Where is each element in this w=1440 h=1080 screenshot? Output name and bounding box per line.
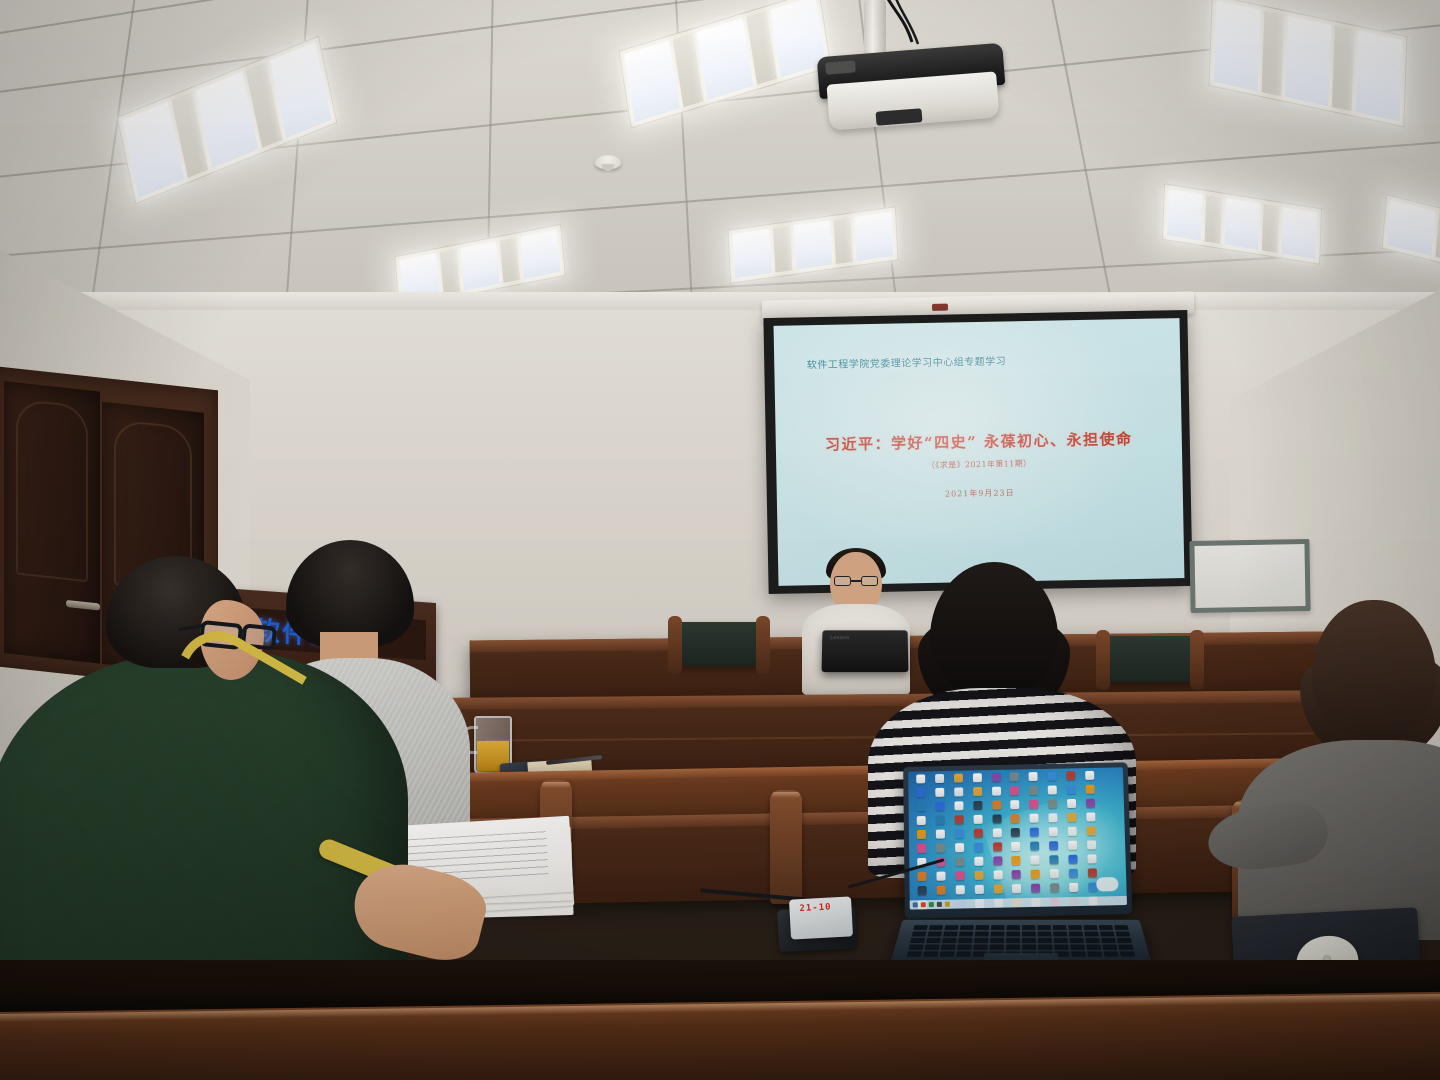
- desktop-icon[interactable]: [974, 843, 983, 852]
- keyboard-key[interactable]: [1054, 944, 1069, 949]
- keyboard-key[interactable]: [1118, 944, 1133, 949]
- desktop-icon[interactable]: [1050, 883, 1059, 892]
- desktop-icon[interactable]: [993, 856, 1002, 865]
- keyboard-key[interactable]: [1071, 951, 1086, 956]
- keyboard-key[interactable]: [956, 951, 971, 956]
- desktop-icon[interactable]: [1030, 800, 1039, 809]
- desktop-icon[interactable]: [992, 814, 1001, 823]
- desktop-icon[interactable]: [1048, 785, 1057, 794]
- keyboard-key[interactable]: [1069, 938, 1084, 943]
- keyboard-key[interactable]: [1053, 925, 1067, 930]
- keyboard-key[interactable]: [1120, 951, 1136, 956]
- desktop-icon[interactable]: [1012, 870, 1021, 879]
- desktop-icon[interactable]: [1068, 813, 1077, 822]
- desktop-icon[interactable]: [1011, 800, 1020, 809]
- glasses-icon: [834, 576, 878, 586]
- desktop-icon[interactable]: [1069, 883, 1078, 892]
- desktop-icon[interactable]: [916, 774, 925, 783]
- keyboard-key[interactable]: [959, 931, 973, 936]
- keyboard-key[interactable]: [957, 944, 972, 949]
- keyboard-key[interactable]: [1086, 944, 1101, 949]
- desktop-icon[interactable]: [973, 787, 982, 796]
- desktop-icon[interactable]: [917, 844, 926, 853]
- desktop-icon[interactable]: [1031, 870, 1040, 879]
- keyboard-key[interactable]: [925, 944, 940, 949]
- desktop-icon[interactable]: [1069, 855, 1078, 864]
- keyboard-key[interactable]: [910, 938, 925, 943]
- keyboard-key[interactable]: [958, 938, 973, 943]
- keyboard-key[interactable]: [990, 931, 1004, 936]
- keyboard-key[interactable]: [1101, 938, 1116, 943]
- desktop-icon[interactable]: [954, 787, 963, 796]
- keyboard-key[interactable]: [1022, 925, 1036, 930]
- desktop-icon[interactable]: [992, 828, 1001, 837]
- desktop-icon[interactable]: [1029, 786, 1038, 795]
- keyboard-key[interactable]: [973, 944, 988, 949]
- desktop-icon[interactable]: [954, 815, 963, 824]
- desktop-icon[interactable]: [1031, 856, 1040, 865]
- keyboard-key[interactable]: [1102, 944, 1117, 949]
- attendee-woman-grey-top: [1292, 600, 1440, 960]
- desktop-icon[interactable]: [973, 829, 982, 838]
- armrest: [770, 790, 802, 904]
- keyboard-key[interactable]: [1104, 951, 1119, 956]
- desktop-icon[interactable]: [1050, 869, 1059, 878]
- slide-surface: 软件工程学院党委理论学习中心组专题学习 习近平：学好“四史” 永葆初心、永担使命…: [774, 318, 1185, 586]
- desktop-icon[interactable]: [1012, 884, 1021, 893]
- desktop-icon[interactable]: [1088, 868, 1097, 877]
- keyboard-key[interactable]: [974, 938, 988, 943]
- desktop-icon[interactable]: [954, 801, 963, 810]
- keyboard-key[interactable]: [1054, 938, 1068, 943]
- portable-device[interactable]: 21-10: [789, 896, 853, 939]
- desktop-icon[interactable]: [973, 801, 982, 810]
- desktop-icon[interactable]: [1012, 856, 1021, 865]
- desktop-icon[interactable]: [1030, 814, 1039, 823]
- keyboard-key[interactable]: [912, 931, 927, 936]
- desktop-icon[interactable]: [1050, 855, 1059, 864]
- laptop-screen[interactable]: [908, 767, 1127, 909]
- desktop-icon[interactable]: [955, 857, 964, 866]
- desktop-icon[interactable]: [1068, 841, 1077, 850]
- slide-header-text: 软件工程学院党委理论学习中心组专题学习: [807, 353, 1007, 372]
- keyboard-key[interactable]: [990, 944, 1004, 949]
- desktop-icon[interactable]: [1087, 826, 1096, 835]
- keyboard-key[interactable]: [913, 925, 928, 930]
- desktop-icon[interactable]: [935, 788, 944, 797]
- hair: [1312, 600, 1436, 742]
- keyboard-key[interactable]: [941, 944, 956, 949]
- keyboard-key[interactable]: [1068, 925, 1082, 930]
- keyboard-key[interactable]: [991, 925, 1005, 930]
- desktop-icon[interactable]: [1048, 799, 1057, 808]
- desktop-icon[interactable]: [1011, 828, 1020, 837]
- keyboard-key[interactable]: [1100, 931, 1115, 936]
- desktop-icon[interactable]: [1049, 827, 1058, 836]
- desktop-icon[interactable]: [1049, 813, 1058, 822]
- keyboard-key[interactable]: [927, 931, 942, 936]
- keyboard-key[interactable]: [975, 925, 989, 930]
- keyboard-key[interactable]: [1006, 931, 1020, 936]
- desktop-icon[interactable]: [993, 884, 1002, 893]
- desktop-icon[interactable]: [935, 774, 944, 783]
- desktop-icon[interactable]: [1067, 785, 1076, 794]
- desktop-icon[interactable]: [1069, 869, 1078, 878]
- keyboard-key[interactable]: [1115, 931, 1130, 936]
- desktop-icon[interactable]: [1048, 772, 1057, 781]
- desktop-icon[interactable]: [974, 871, 983, 880]
- desktop-icon[interactable]: [1010, 772, 1019, 781]
- keyboard-key[interactable]: [943, 931, 958, 936]
- keyboard-key[interactable]: [940, 951, 955, 956]
- search-icon[interactable]: [1096, 877, 1118, 892]
- keyboard-key[interactable]: [942, 938, 957, 943]
- desktop-icon[interactable]: [1010, 786, 1019, 795]
- slide-subtitle-text: （《求是》2021年第11期）: [776, 455, 1182, 474]
- desktop-icon[interactable]: [917, 886, 926, 895]
- desktop-icon[interactable]: [955, 843, 964, 852]
- desktop-icon[interactable]: [1085, 771, 1094, 780]
- keyboard-key[interactable]: [944, 925, 958, 930]
- keyboard-key[interactable]: [990, 938, 1004, 943]
- desktop-icon[interactable]: [1087, 840, 1096, 849]
- slide-title-text: 习近平：学好“四史” 永葆初心、永担使命: [776, 427, 1182, 456]
- keyboard-key[interactable]: [1069, 931, 1083, 936]
- desktop-icon[interactable]: [1066, 771, 1075, 780]
- desktop-icon[interactable]: [1031, 884, 1040, 893]
- slide-date-text: 2021年9月23日: [777, 484, 1183, 503]
- desktop-icon[interactable]: [974, 857, 983, 866]
- keyboard-key[interactable]: [975, 931, 989, 936]
- desktop-icon[interactable]: [1067, 799, 1076, 808]
- desktop-icon-grid[interactable]: [912, 770, 1120, 899]
- desktop-icon[interactable]: [955, 829, 964, 838]
- keyboard-key[interactable]: [1006, 944, 1020, 949]
- desktop-icon[interactable]: [955, 885, 964, 894]
- desktop-icon[interactable]: [992, 787, 1001, 796]
- desktop-icon[interactable]: [917, 816, 926, 825]
- desktop-icon[interactable]: [936, 872, 945, 881]
- desktop-icon[interactable]: [1029, 772, 1038, 781]
- desktop-icon[interactable]: [917, 872, 926, 881]
- desktop-icon[interactable]: [936, 816, 945, 825]
- presenter-laptop[interactable]: [822, 630, 909, 672]
- keyboard-key[interactable]: [1114, 925, 1129, 930]
- keyboard-key[interactable]: [1087, 951, 1102, 956]
- keyboard-key[interactable]: [1038, 931, 1052, 936]
- meeting-room-photo: 软件工程 软件工程学院党委理论学习中心组专题学习 习近平：学好“四史” 永葆初心…: [0, 0, 1440, 1080]
- smoke-detector-icon: [595, 155, 621, 169]
- desktop-icon[interactable]: [916, 788, 925, 797]
- desktop-icon[interactable]: [955, 871, 964, 880]
- keyboard-key[interactable]: [1053, 931, 1067, 936]
- desktop-icon[interactable]: [1011, 814, 1020, 823]
- keyboard-key[interactable]: [1022, 931, 1036, 936]
- keyboard-key[interactable]: [1084, 931, 1099, 936]
- desktop-icon[interactable]: [935, 802, 944, 811]
- desktop-icon[interactable]: [974, 885, 983, 894]
- keyboard-key[interactable]: [1038, 944, 1052, 949]
- keyboard-key[interactable]: [1006, 925, 1020, 930]
- keyboard-key[interactable]: [1099, 925, 1113, 930]
- wall-soffit: [0, 292, 1440, 310]
- desktop-icon[interactable]: [1049, 841, 1058, 850]
- keyboard-key[interactable]: [929, 925, 943, 930]
- desktop-icon[interactable]: [1088, 854, 1097, 863]
- keyboard-key[interactable]: [1022, 944, 1036, 949]
- chair[interactable]: [676, 622, 762, 666]
- keyboard-key[interactable]: [1117, 938, 1132, 943]
- desktop-icon[interactable]: [993, 870, 1002, 879]
- desktop-icon[interactable]: [936, 844, 945, 853]
- desktop-icon[interactable]: [973, 773, 982, 782]
- desktop-icon[interactable]: [1086, 785, 1095, 794]
- desktop-icon[interactable]: [1086, 799, 1095, 808]
- keyboard-key[interactable]: [960, 925, 974, 930]
- keyboard-key[interactable]: [926, 938, 941, 943]
- presenter: [808, 552, 908, 702]
- ceiling: [0, 0, 1440, 330]
- desktop-icon[interactable]: [991, 773, 1000, 782]
- desktop-icon[interactable]: [1012, 842, 1021, 851]
- keyboard-key[interactable]: [907, 951, 923, 956]
- keyboard-key[interactable]: [1037, 925, 1051, 930]
- desktop-icon[interactable]: [936, 886, 945, 895]
- desktop-icon[interactable]: [916, 802, 925, 811]
- desktop-icon[interactable]: [992, 801, 1001, 810]
- desktop-icon[interactable]: [973, 815, 982, 824]
- keyboard-key[interactable]: [1083, 925, 1097, 930]
- keyboard-key[interactable]: [1006, 938, 1020, 943]
- ceiling-projector: [818, 16, 1018, 136]
- desktop-icon[interactable]: [954, 774, 963, 783]
- laptop-lid: [903, 762, 1132, 918]
- desktop-icon[interactable]: [993, 842, 1002, 851]
- open-laptop[interactable]: [896, 764, 1146, 980]
- desktop-icon[interactable]: [1030, 828, 1039, 837]
- keyboard-key[interactable]: [1022, 938, 1036, 943]
- desktop-icon[interactable]: [1086, 812, 1095, 821]
- keyboard-key[interactable]: [1070, 944, 1085, 949]
- keyboard-key[interactable]: [1085, 938, 1100, 943]
- device-label: 21-10: [799, 902, 832, 914]
- keyboard-key[interactable]: [923, 951, 938, 956]
- desktop-icon[interactable]: [1030, 842, 1039, 851]
- desktop-icon[interactable]: [1068, 827, 1077, 836]
- keyboard-key[interactable]: [1038, 938, 1052, 943]
- hair: [930, 562, 1058, 698]
- keyboard-key[interactable]: [908, 944, 923, 949]
- desktop-icon[interactable]: [936, 830, 945, 839]
- desktop-icon[interactable]: [917, 830, 926, 839]
